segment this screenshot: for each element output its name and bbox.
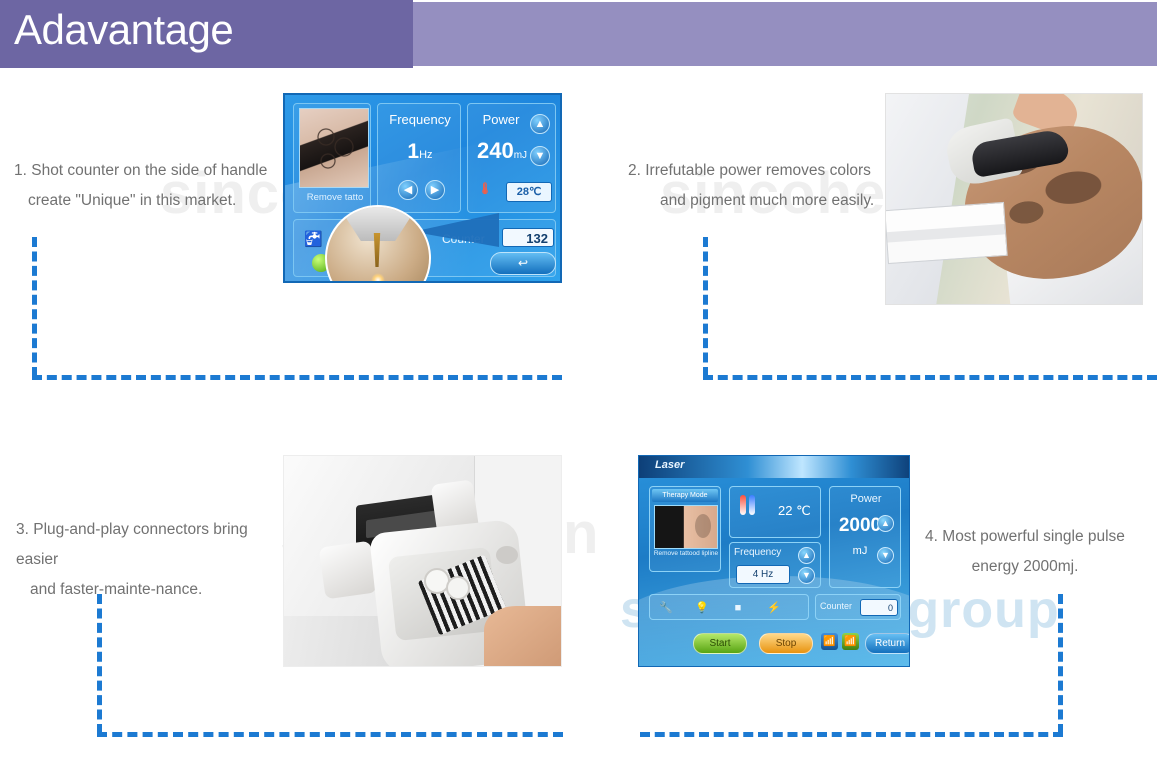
frequency-decrease-icon[interactable]: ◀	[398, 180, 418, 200]
bracket-vertical	[32, 237, 37, 377]
power-number: 240	[477, 138, 514, 163]
start-button[interactable]: Start	[693, 633, 747, 654]
therapy-mode-panel[interactable]: Therapy Mode Remove tattood lipline	[649, 486, 721, 572]
handpiece-icon[interactable]: 🔧	[658, 600, 674, 616]
bolt-icon[interactable]: ⚡	[766, 600, 782, 616]
mounting-hole	[496, 546, 518, 564]
power-up-icon[interactable]: ▲	[530, 114, 550, 134]
lamp-icon[interactable]: 💡	[694, 600, 710, 616]
advantage-caption-4: 4. Most powerful single pulse energy 200…	[900, 522, 1150, 582]
bracket-vertical	[97, 594, 102, 734]
face-treatment-photo	[885, 93, 1143, 305]
counter-label: Counter	[820, 601, 852, 611]
laser-spark-icon	[371, 273, 385, 283]
frequency-panel[interactable]: Frequency 4 Hz ▲ ▼	[729, 542, 821, 588]
frequency-down-icon[interactable]: ▼	[798, 567, 815, 584]
connector-photo	[283, 455, 562, 667]
caption-line-1: 3. Plug-and-play connectors bring easier	[16, 521, 248, 568]
frequency-up-icon[interactable]: ▲	[798, 547, 815, 564]
power-value: 240mJ	[468, 138, 536, 164]
operator-arm	[484, 606, 562, 666]
power-unit: mJ	[514, 150, 527, 161]
bracket-horizontal	[32, 375, 562, 380]
power-down-icon[interactable]: ▼	[877, 547, 894, 564]
page-title: Adavantage	[14, 6, 233, 54]
mode-label: Remove tatto	[300, 192, 370, 203]
frequency-panel[interactable]: Frequency 1Hz ◀ ▶	[377, 103, 461, 213]
frequency-unit: Hz	[419, 149, 432, 161]
signal-green-icon[interactable]: 📶	[842, 633, 859, 650]
toolbar-panel: 🔧 💡 ■ ⚡	[649, 594, 809, 620]
water-tap-icon: 🚰	[304, 230, 323, 248]
therapy-mode-label: Remove tattood lipline	[650, 549, 722, 558]
power-down-icon[interactable]: ▼	[530, 146, 550, 166]
frequency-number: 1	[407, 140, 419, 163]
therapy-mode-thumbnail	[654, 505, 718, 549]
page-header: Adavantage	[0, 0, 1157, 68]
power-label: Power	[830, 493, 902, 505]
frequency-value: 1Hz	[378, 140, 462, 164]
thermometer-icon	[740, 495, 758, 516]
caption-line-2: and pigment much more easily.	[660, 186, 898, 216]
device-screen-4: Laser Therapy Mode Remove tattood liplin…	[638, 455, 910, 667]
header-right-band	[413, 2, 1157, 66]
therapy-mode-header: Therapy Mode	[652, 489, 718, 502]
connector-clip-left	[319, 541, 378, 600]
caption-line-2: energy 2000mj.	[900, 552, 1150, 582]
return-button[interactable]: Return	[865, 633, 910, 654]
cartridge-icon[interactable]: ■	[730, 600, 746, 616]
frequency-label: Frequency	[734, 547, 781, 558]
device-screen-1: Remove tatto Frequency 1Hz ◀ ▶ Power 240…	[283, 93, 562, 283]
bracket-horizontal	[97, 732, 563, 737]
temperature-panel: 22 ℃	[729, 486, 821, 538]
caption-line-1: 4. Most powerful single pulse	[925, 528, 1125, 545]
advantage-caption-3: 3. Plug-and-play connectors bring easier…	[16, 515, 286, 605]
bracket-horizontal	[703, 375, 1157, 380]
bracket-horizontal	[640, 732, 1063, 737]
advantage-caption-1: 1. Shot counter on the side of handle cr…	[14, 156, 279, 216]
bracket-vertical	[703, 237, 708, 377]
counter-value: 132	[502, 228, 554, 247]
advantage-caption-2: 2. Irrefutable power removes colors and …	[628, 156, 898, 216]
caption-line-1: 2. Irrefutable power removes colors	[628, 162, 871, 179]
power-panel[interactable]: Power 240mJ ▲ ▼ 🌡 28℃	[467, 103, 556, 213]
thermometer-icon: 🌡	[478, 182, 492, 195]
bracket-vertical	[1058, 594, 1063, 734]
power-up-icon[interactable]: ▲	[877, 515, 894, 532]
mode-panel[interactable]: Remove tatto	[293, 103, 371, 213]
signal-blue-icon[interactable]: 📶	[821, 633, 838, 650]
power-label: Power	[468, 112, 534, 127]
caption-line-1: 1. Shot counter on the side of handle	[14, 162, 267, 179]
temperature-value: 28℃	[506, 182, 552, 202]
counter-panel: Counter 0	[815, 594, 901, 620]
caption-line-2: create "Unique" in this market.	[28, 186, 279, 216]
power-panel[interactable]: Power 2000 mJ ▲ ▼	[829, 486, 901, 588]
return-button[interactable]: ↩	[490, 252, 556, 275]
tattoo-thumbnail	[299, 108, 369, 188]
temperature-value: 22 ℃	[778, 503, 811, 519]
laser-handpiece-device	[885, 202, 1008, 264]
frequency-value: 4 Hz	[736, 565, 790, 584]
coolant-port-2	[446, 576, 470, 600]
frequency-label: Frequency	[378, 112, 462, 127]
screen-title: Laser	[655, 459, 684, 471]
frequency-increase-icon[interactable]: ▶	[425, 180, 445, 200]
counter-value: 0	[860, 599, 898, 616]
stop-button[interactable]: Stop	[759, 633, 813, 654]
